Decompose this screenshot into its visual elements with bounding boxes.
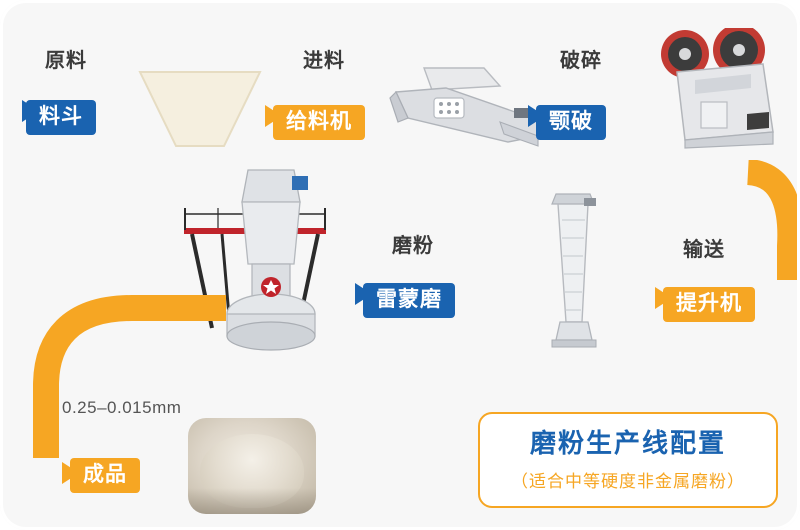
- stage-label-raw-material: 原料: [45, 44, 87, 73]
- hopper-icon: [138, 70, 262, 148]
- caption-subtitle: （适合中等硬度非金属磨粉）: [490, 467, 766, 492]
- stage-tag-hopper: 料斗: [26, 100, 96, 135]
- flow-diagram: 原料 料斗 进料 给料机 破碎 颚破: [0, 0, 800, 530]
- jaw-crusher-icon: [655, 28, 785, 153]
- flow-curve-right: [600, 160, 800, 360]
- stage-label-crushing: 破碎: [560, 44, 602, 73]
- flow-curve-bottom-left: [12, 290, 252, 510]
- vibrating-feeder-icon: [388, 62, 548, 152]
- stage-label-grinding: 磨粉: [392, 229, 434, 258]
- stage-tag-jaw-crusher: 颚破: [536, 105, 606, 140]
- stage-tag-feeder: 给料机: [273, 105, 365, 140]
- caption-title: 磨粉生产线配置: [490, 428, 766, 459]
- stage-tag-raymond-mill: 雷蒙磨: [363, 283, 455, 318]
- stage-label-feeding: 进料: [303, 44, 345, 73]
- caption-panel: 磨粉生产线配置 （适合中等硬度非金属磨粉）: [478, 412, 778, 508]
